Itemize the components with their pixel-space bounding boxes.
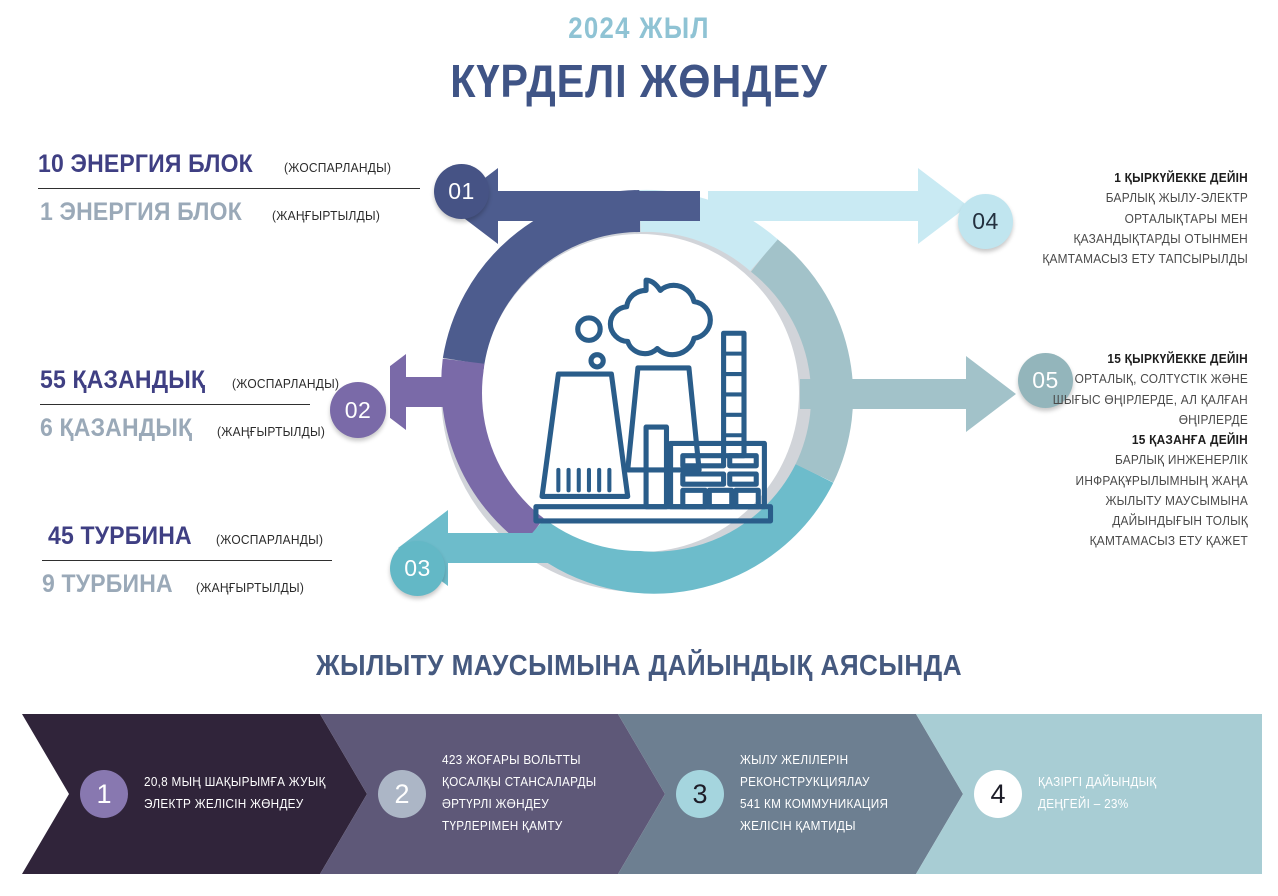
chevron-number: 1 [80, 770, 128, 818]
stat-block-turbine: 45 ТУРБИНА (ЖОСПАРЛАНДЫ) 9 ТУРБИНА (ЖАҢҒ… [42, 522, 442, 599]
stat-row-done: 9 ТУРБИНА (ЖАҢҒЫРТЫЛДЫ) [42, 570, 442, 599]
chevron-number: 3 [676, 770, 724, 818]
chevron-step-2[interactable]: 2 423 ЖОҒАРЫ ВОЛЬТТЫ ҚОСАЛҚЫ СТАНСАЛАРДЫ… [320, 714, 665, 874]
note-body: БАРЛЫҚ ЖЫЛУ-ЭЛЕКТР ОРТАЛЫҚТАРЫ МЕН ҚАЗАН… [1034, 188, 1248, 269]
chevron-steps: 1 20,8 МЫҢ ШАҚЫРЫМҒА ЖУЫҚ ЭЛЕКТР ЖЕЛІСІН… [22, 714, 1262, 874]
stat-row-done: 1 ЭНЕРГИЯ БЛОК (ЖАҢҒЫРТЫЛДЫ) [38, 198, 438, 227]
stat-planned-value: 55 ҚАЗАНДЫҚ [40, 366, 205, 395]
chevron-text: 423 ЖОҒАРЫ ВОЛЬТТЫ ҚОСАЛҚЫ СТАНСАЛАРДЫ Ә… [442, 750, 596, 838]
ring-inner-disc [482, 235, 798, 551]
note-body-secondary: БАРЛЫҚ ИНЖЕНЕРЛІК ИНФРАҚҰРЫЛЫМНЫҢ ЖАҢА Ж… [1034, 450, 1248, 551]
stat-block-energy: 10 ЭНЕРГИЯ БЛОК (ЖОСПАРЛАНДЫ) 1 ЭНЕРГИЯ … [38, 150, 438, 227]
note-block-04: 1 ҚЫРКҮЙЕККЕ ДЕЙІН БАРЛЫҚ ЖЫЛУ-ЭЛЕКТР ОР… [1034, 168, 1248, 269]
bottom-section-title: ЖЫЛЫТУ МАУСЫМЫНА ДАЙЫНДЫҚ АЯСЫНДА [64, 650, 1214, 683]
stat-row-done: 6 ҚАЗАНДЫҚ (ЖАҢҒЫРТЫЛДЫ) [40, 414, 440, 443]
process-wheel [390, 150, 1030, 630]
chevron-step-4[interactable]: 4 ҚАЗІРГІ ДАЙЫНДЫҚ ДЕҢГЕЙІ – 23% [916, 714, 1262, 874]
stat-planned-note: (ЖОСПАРЛАНДЫ) [284, 160, 391, 175]
stat-done-note: (ЖАҢҒЫРТЫЛДЫ) [272, 208, 380, 223]
stat-planned-note: (ЖОСПАРЛАНДЫ) [216, 532, 323, 547]
chevron-text: ҚАЗІРГІ ДАЙЫНДЫҚ ДЕҢГЕЙІ – 23% [1038, 772, 1156, 816]
note-heading-secondary: 15 ҚАЗАНҒА ДЕЙІН [1034, 430, 1248, 450]
stat-done-note: (ЖАҢҒЫРТЫЛДЫ) [217, 424, 325, 439]
stat-row-planned: 55 ҚАЗАНДЫҚ (ЖОСПАРЛАНДЫ) [40, 366, 440, 395]
stat-divider [40, 404, 310, 405]
chevron-step-3[interactable]: 3 ЖЫЛУ ЖЕЛІЛЕРІН РЕКОНСТРУКЦИЯЛАУ 541 КМ… [618, 714, 963, 874]
year-title: 2024 ЖЫЛ [89, 12, 1188, 45]
stat-block-boiler: 55 ҚАЗАНДЫҚ (ЖОСПАРЛАНДЫ) 6 ҚАЗАНДЫҚ (ЖА… [40, 366, 440, 443]
note-heading: 1 ҚЫРКҮЙЕККЕ ДЕЙІН [1034, 168, 1248, 188]
chevron-step-1[interactable]: 1 20,8 МЫҢ ШАҚЫРЫМҒА ЖУЫҚ ЭЛЕКТР ЖЕЛІСІН… [22, 714, 367, 874]
note-block-05: 15 ҚЫРКҮЙЕККЕ ДЕЙІН ОРТАЛЫҚ, СОЛТҮСТІК Ж… [1034, 349, 1248, 552]
note-heading: 15 ҚЫРКҮЙЕККЕ ДЕЙІН [1034, 349, 1248, 369]
step-badge-04[interactable]: 04 [958, 194, 1013, 249]
stat-row-planned: 10 ЭНЕРГИЯ БЛОК (ЖОСПАРЛАНДЫ) [38, 150, 438, 179]
stat-planned-value: 45 ТУРБИНА [48, 522, 192, 551]
page-title: КҮРДЕЛІ ЖӨНДЕУ [64, 57, 1214, 105]
stat-row-planned: 45 ТУРБИНА (ЖОСПАРЛАНДЫ) [42, 522, 442, 551]
stat-done-value: 9 ТУРБИНА [42, 570, 173, 599]
page-title-block: 2024 ЖЫЛ КҮРДЕЛІ ЖӨНДЕУ [0, 12, 1278, 105]
chevron-text: ЖЫЛУ ЖЕЛІЛЕРІН РЕКОНСТРУКЦИЯЛАУ 541 КМ К… [740, 750, 888, 838]
note-body: ОРТАЛЫҚ, СОЛТҮСТІК ЖӘНЕ ШЫҒЫС ӨҢІРЛЕРДЕ,… [1034, 369, 1248, 430]
stat-done-note: (ЖАҢҒЫРТЫЛДЫ) [196, 580, 304, 595]
chevron-number: 2 [378, 770, 426, 818]
stat-done-value: 6 ҚАЗАНДЫҚ [40, 414, 192, 443]
stat-divider [38, 188, 420, 189]
stat-planned-note: (ЖОСПАРЛАНДЫ) [232, 376, 339, 391]
step-badge-01[interactable]: 01 [434, 164, 489, 219]
stat-divider [42, 560, 332, 561]
stat-done-value: 1 ЭНЕРГИЯ БЛОК [40, 198, 242, 227]
chevron-number: 4 [974, 770, 1022, 818]
chevron-text: 20,8 МЫҢ ШАҚЫРЫМҒА ЖУЫҚ ЭЛЕКТР ЖЕЛІСІН Ж… [144, 772, 326, 816]
stat-planned-value: 10 ЭНЕРГИЯ БЛОК [38, 150, 253, 179]
